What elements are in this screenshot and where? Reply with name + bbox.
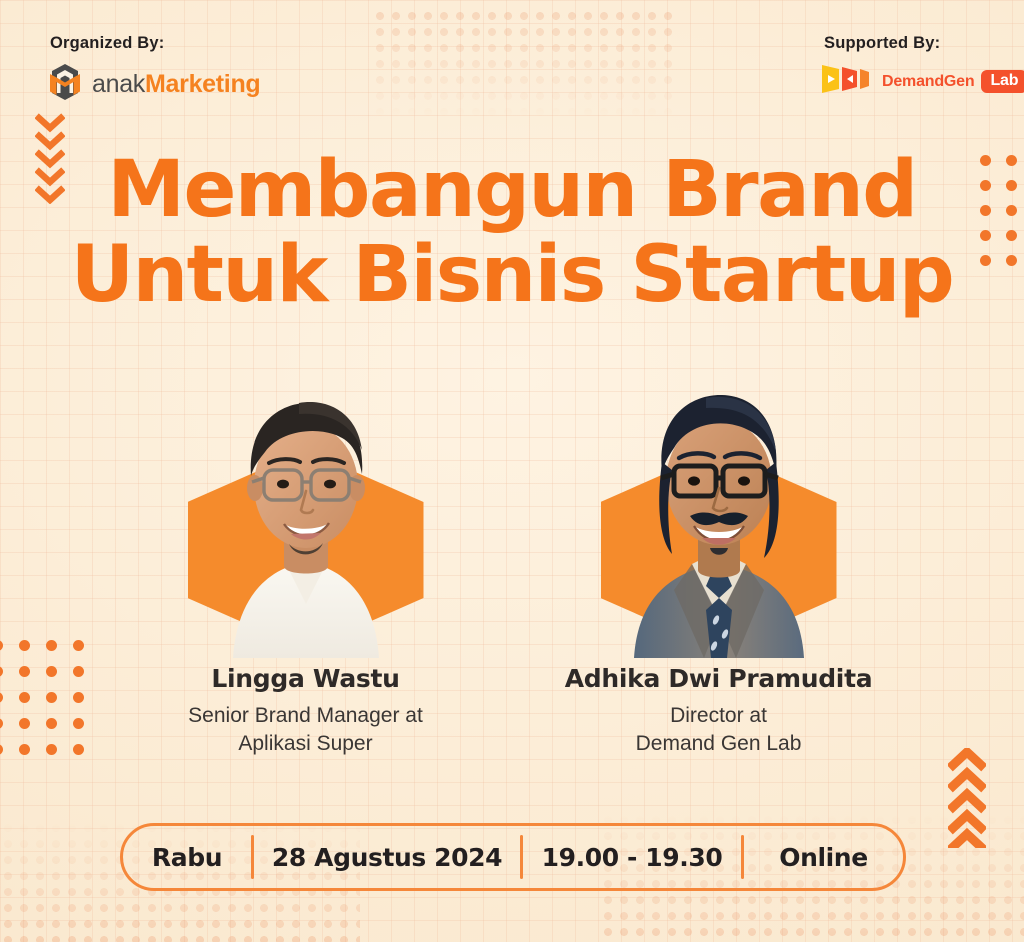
speakers-row: Lingga Wastu Senior Brand Manager at Apl… (0, 358, 1024, 757)
webinar-poster: Organized By: anakMarketing Supported By… (0, 0, 1024, 942)
supporter-name: DemandGen (882, 73, 974, 91)
demandgen-play-flag-logo-icon (820, 62, 872, 101)
organizer-logo: anakMarketing (46, 62, 260, 107)
event-details-bar: Rabu 28 Agustus 2024 19.00 - 19.30 Onlin… (120, 823, 906, 891)
halftone-texture-top (372, 8, 672, 120)
organizer-name-part-2: Marketing (145, 70, 260, 98)
speaker-role: Director at Demand Gen Lab (636, 702, 802, 757)
speaker-card: Lingga Wastu Senior Brand Manager at Apl… (181, 358, 431, 757)
chevron-up-stack (948, 748, 986, 853)
supporter-badge: Lab (981, 70, 1024, 93)
speaker-photo-frame (594, 358, 844, 658)
speaker-role-line-2: Demand Gen Lab (636, 730, 802, 758)
speaker-name: Adhika Dwi Pramudita (565, 664, 873, 693)
speaker-photo-adhika-dwi-pramudita (594, 358, 844, 658)
organized-by-label: Organized By: (50, 34, 164, 53)
title-line-2: Untuk Bisnis Startup (0, 233, 1024, 318)
supporter-logo: DemandGen Lab (820, 62, 1024, 101)
speaker-name: Lingga Wastu (211, 664, 399, 693)
speaker-role-line-1: Senior Brand Manager at (188, 702, 423, 730)
supporter-wordmark: DemandGen Lab (882, 70, 1024, 93)
speaker-photo-lingga-wastu (181, 358, 431, 658)
event-date: 28 Agustus 2024 (254, 826, 520, 888)
speaker-photo-frame (181, 358, 431, 658)
supported-by-label: Supported By: (824, 34, 940, 53)
organizer-wordmark: anakMarketing (92, 72, 260, 97)
speaker-role-line-2: Aplikasi Super (188, 730, 423, 758)
organizer-name-part-1: anak (92, 70, 145, 98)
title-line-1: Membangun Brand (0, 148, 1024, 233)
event-time: 19.00 - 19.30 (523, 826, 741, 888)
event-day: Rabu (123, 826, 251, 888)
speaker-card: Adhika Dwi Pramudita Director at Demand … (594, 358, 844, 757)
speaker-role: Senior Brand Manager at Aplikasi Super (188, 702, 423, 757)
poster-title: Membangun Brand Untuk Bisnis Startup (0, 148, 1024, 318)
event-location: Online (744, 826, 903, 888)
anakmarketing-m-logo-icon (46, 62, 84, 107)
speaker-role-line-1: Director at (636, 702, 802, 730)
